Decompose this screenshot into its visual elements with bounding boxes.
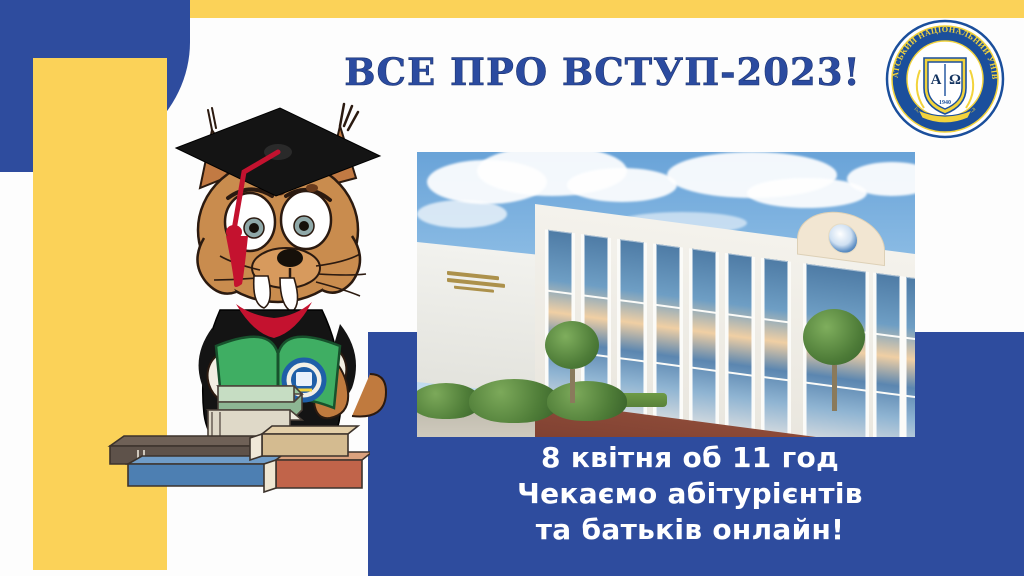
tree-shape <box>803 309 865 411</box>
university-building-photo <box>417 152 915 437</box>
event-audience-line: Чекаємо абітурієнтів <box>430 476 950 512</box>
logo-founded-year: 1940 <box>939 100 951 106</box>
cloud-icon <box>567 168 677 202</box>
event-details-text: 8 квітня об 11 год Чекаємо абітурієнтів … <box>430 440 950 548</box>
event-date-line: 8 квітня об 11 год <box>430 440 950 476</box>
logo-alpha-letter: A <box>931 72 942 88</box>
building-left-wing <box>417 242 552 396</box>
window-column <box>903 276 915 437</box>
book-stack <box>100 368 370 498</box>
cloud-icon <box>417 200 507 228</box>
sign-line <box>454 286 494 293</box>
tree-shape <box>545 321 599 403</box>
page-title: ВСЕ ПРО ВСТУП-2023! <box>330 50 875 94</box>
window-column <box>689 248 719 430</box>
window-column <box>761 258 791 437</box>
university-logo: ПРИКАРПАТСЬКИЙ НАЦІОНАЛЬНИЙ УНІВЕРСИТЕТ … <box>884 18 1006 140</box>
window-column <box>725 253 755 435</box>
poster-canvas: ВСЕ ПРО ВСТУП-2023! <box>0 0 1024 576</box>
event-parents-line: та батьків онлайн! <box>430 512 950 548</box>
window-column <box>873 272 903 437</box>
logo-omega-letter: Ω <box>949 72 961 88</box>
top-yellow-bar <box>190 0 1024 18</box>
building-seal-icon <box>828 222 858 256</box>
